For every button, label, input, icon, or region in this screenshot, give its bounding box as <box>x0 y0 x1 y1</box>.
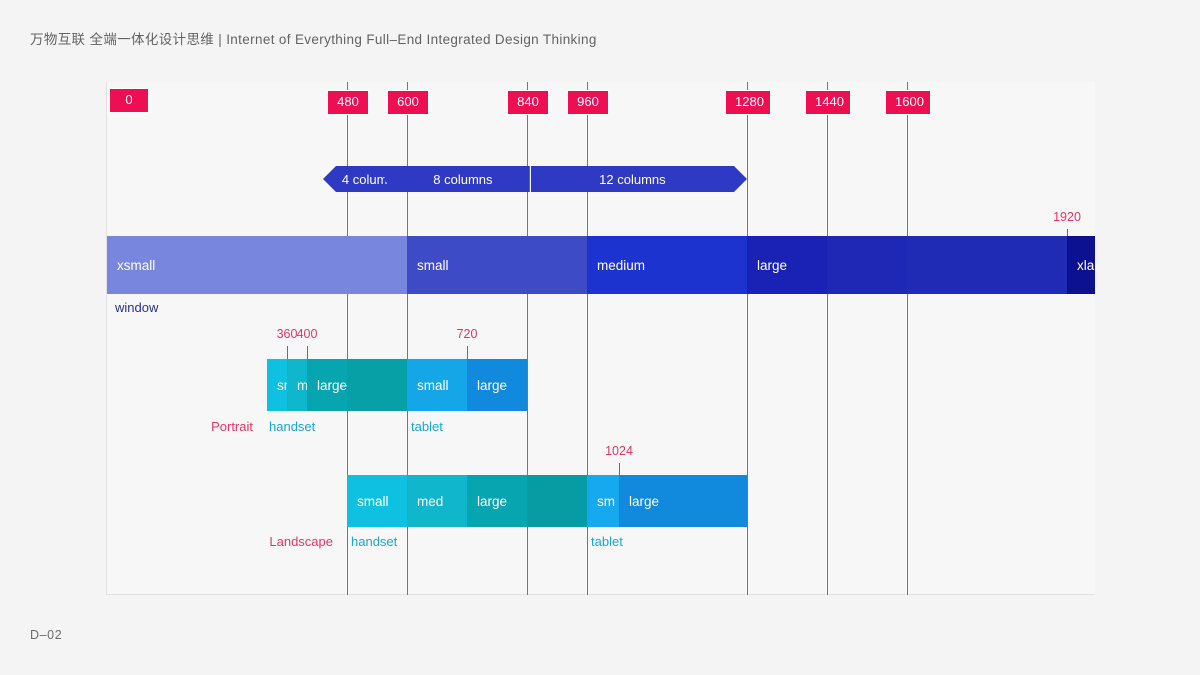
band-window: xsmallsmallmediumlargexlarge <box>107 236 1095 294</box>
segment-label: large <box>467 494 507 509</box>
tick-line-720 <box>467 346 468 359</box>
caption-handset: handset <box>351 534 397 549</box>
segment-label: small <box>347 494 389 509</box>
segment-window-xlarge[interactable]: xlarge <box>1067 236 1095 294</box>
caption-window: window <box>115 300 158 315</box>
segment-label: small <box>407 378 449 393</box>
breakpoint-badge-1600[interactable]: 1600 <box>885 90 931 115</box>
breakpoint-badge-600[interactable]: 600 <box>387 90 429 115</box>
gridline-1440 <box>827 82 828 595</box>
tick-line-400 <box>307 346 308 359</box>
column-chip-12-columns[interactable]: 12 columns <box>530 166 747 192</box>
segment-portrait-handset-med[interactable]: med <box>287 359 307 411</box>
caption-portrait: Portrait <box>211 419 253 434</box>
segment-window-small[interactable]: small <box>407 236 527 294</box>
segment-landscape-handset-spacer[interactable] <box>527 475 587 527</box>
band-landscape-handset: smallmedlarge <box>347 475 587 527</box>
column-chip-group: 8 columns12 columns <box>383 166 747 192</box>
segment-window-large[interactable]: large <box>747 236 827 294</box>
segment-label: large <box>467 378 507 393</box>
breakpoint-badge-1440[interactable]: 1440 <box>805 90 851 115</box>
tick-label-360: 360 <box>277 327 298 341</box>
segment-label: small <box>267 378 287 393</box>
tick-label-720: 720 <box>457 327 478 341</box>
breakpoint-badge-840[interactable]: 840 <box>507 90 549 115</box>
segment-window-spacer[interactable] <box>527 236 587 294</box>
segment-label: large <box>307 378 347 393</box>
column-chip-8-columns[interactable]: 8 columns <box>383 166 530 192</box>
segment-portrait-tablet-small[interactable]: small <box>407 359 467 411</box>
breakpoint-badge-1280[interactable]: 1280 <box>725 90 771 115</box>
breakpoint-badge-0[interactable]: 0 <box>109 88 149 113</box>
caption-handset: handset <box>269 419 315 434</box>
segment-landscape-handset-small[interactable]: small <box>347 475 407 527</box>
slide-canvas: 万物互联 全端一体化设计思维 | Internet of Everything … <box>0 0 1200 675</box>
segment-window-spacer[interactable] <box>827 236 907 294</box>
tick-label-1920: 1920 <box>1053 210 1081 224</box>
caption-tablet: tablet <box>411 419 443 434</box>
breakpoint-badge-480[interactable]: 480 <box>327 90 369 115</box>
segment-portrait-tablet-large[interactable]: large <box>467 359 527 411</box>
segment-landscape-tablet-large[interactable]: large <box>619 475 747 527</box>
segment-window-spacer[interactable] <box>907 236 1067 294</box>
segment-landscape-tablet-sm[interactable]: sm <box>587 475 619 527</box>
segment-window-medium[interactable]: medium <box>587 236 747 294</box>
tick-line-360 <box>287 346 288 359</box>
segment-label: xlarge <box>1067 258 1095 273</box>
segment-label: medium <box>587 258 645 273</box>
segment-label: med <box>287 378 307 393</box>
segment-label: xsmall <box>107 258 155 273</box>
segment-label: med <box>407 494 443 509</box>
segment-landscape-handset-large[interactable]: large <box>467 475 527 527</box>
segment-label: sm <box>587 494 615 509</box>
tick-label-400: 400 <box>297 327 318 341</box>
segment-label: large <box>619 494 659 509</box>
segment-window-xsmall[interactable]: xsmall <box>107 236 347 294</box>
page-title: 万物互联 全端一体化设计思维 | Internet of Everything … <box>30 28 597 48</box>
breakpoint-badge-960[interactable]: 960 <box>567 90 609 115</box>
segment-label: small <box>407 258 449 273</box>
caption-landscape: Landscape <box>269 534 333 549</box>
breakpoint-chart-panel: 0480600840960128014401600 19203604007201… <box>106 82 1095 595</box>
segment-portrait-handset-large[interactable]: large <box>307 359 347 411</box>
tick-label-1024: 1024 <box>605 444 633 458</box>
segment-landscape-handset-med[interactable]: med <box>407 475 467 527</box>
segment-window-spacer[interactable] <box>347 236 407 294</box>
segment-portrait-handset-small[interactable]: small <box>267 359 287 411</box>
caption-tablet: tablet <box>591 534 623 549</box>
gridline-1600 <box>907 82 908 595</box>
band-portrait-tablet: smalllarge <box>407 359 527 411</box>
segment-label: large <box>747 258 787 273</box>
slide-code: D–02 <box>30 628 62 642</box>
band-landscape-tablet: smlarge <box>587 475 747 527</box>
segment-portrait-handset-spacer[interactable] <box>347 359 407 411</box>
band-portrait-handset: smallmedlarge <box>267 359 407 411</box>
gridline-1280 <box>747 82 748 595</box>
